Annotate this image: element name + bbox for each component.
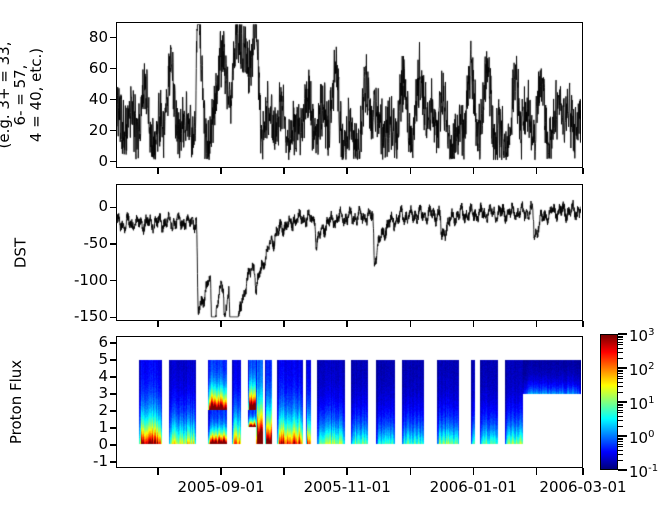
colorbar-minor-tick — [618, 441, 623, 442]
colorbar-minor-tick — [618, 382, 623, 383]
colorbar-minor-tick — [618, 348, 623, 349]
colorbar-minor-tick — [618, 412, 623, 413]
colorbar-minor-tick — [618, 460, 623, 461]
colorbar-minor-tick — [618, 342, 623, 343]
colorbar-minor-tick — [618, 410, 623, 411]
colorbar-minor-tick — [618, 438, 623, 439]
colorbar-tick-label: 101 — [629, 393, 654, 412]
colorbar-minor-tick — [618, 426, 623, 427]
colorbar-minor-tick — [618, 439, 623, 440]
colorbar-tick-mark — [618, 401, 627, 402]
colorbar-minor-tick — [618, 386, 623, 387]
colorbar-minor-tick — [618, 392, 623, 393]
colorbar: 10-1100101102103 — [0, 0, 665, 523]
colorbar-tick-mark — [618, 469, 627, 470]
colorbar-tick-label: 10-1 — [629, 461, 658, 480]
colorbar-minor-tick — [618, 407, 623, 408]
colorbar-minor-tick — [618, 378, 623, 379]
colorbar-tick-label: 100 — [629, 427, 654, 446]
colorbar-minor-tick — [618, 371, 623, 372]
colorbar-minor-tick — [618, 450, 623, 451]
colorbar-tick-mark — [618, 333, 627, 334]
colorbar-minor-tick — [618, 405, 623, 406]
colorbar-minor-tick — [618, 454, 623, 455]
colorbar-minor-tick — [618, 376, 623, 377]
colorbar-minor-tick — [618, 352, 623, 353]
colorbar-minor-tick — [618, 420, 623, 421]
colorbar-minor-tick — [618, 344, 623, 345]
colorbar-minor-tick — [618, 358, 623, 359]
figure-root: Kp(e.g. 3+ = 33,6- = 57,4 = 40, etc.) 02… — [0, 0, 665, 523]
colorbar-minor-tick — [618, 416, 623, 417]
colorbar-minor-tick — [618, 336, 623, 337]
colorbar-minor-tick — [618, 444, 623, 445]
colorbar-minor-tick — [618, 370, 623, 371]
colorbar-tick-label: 102 — [629, 359, 654, 378]
colorbar-minor-tick — [618, 373, 623, 374]
colorbar-tick-label: 103 — [629, 325, 654, 344]
colorbar-tick-mark — [618, 435, 627, 436]
colorbar-minor-tick — [618, 404, 623, 405]
colorbar-minor-tick — [618, 339, 623, 340]
colorbar-minor-tick — [618, 446, 623, 447]
colorbar-minor-tick — [618, 337, 623, 338]
colorbar-gradient — [600, 334, 618, 470]
colorbar-tick-mark — [618, 367, 627, 368]
